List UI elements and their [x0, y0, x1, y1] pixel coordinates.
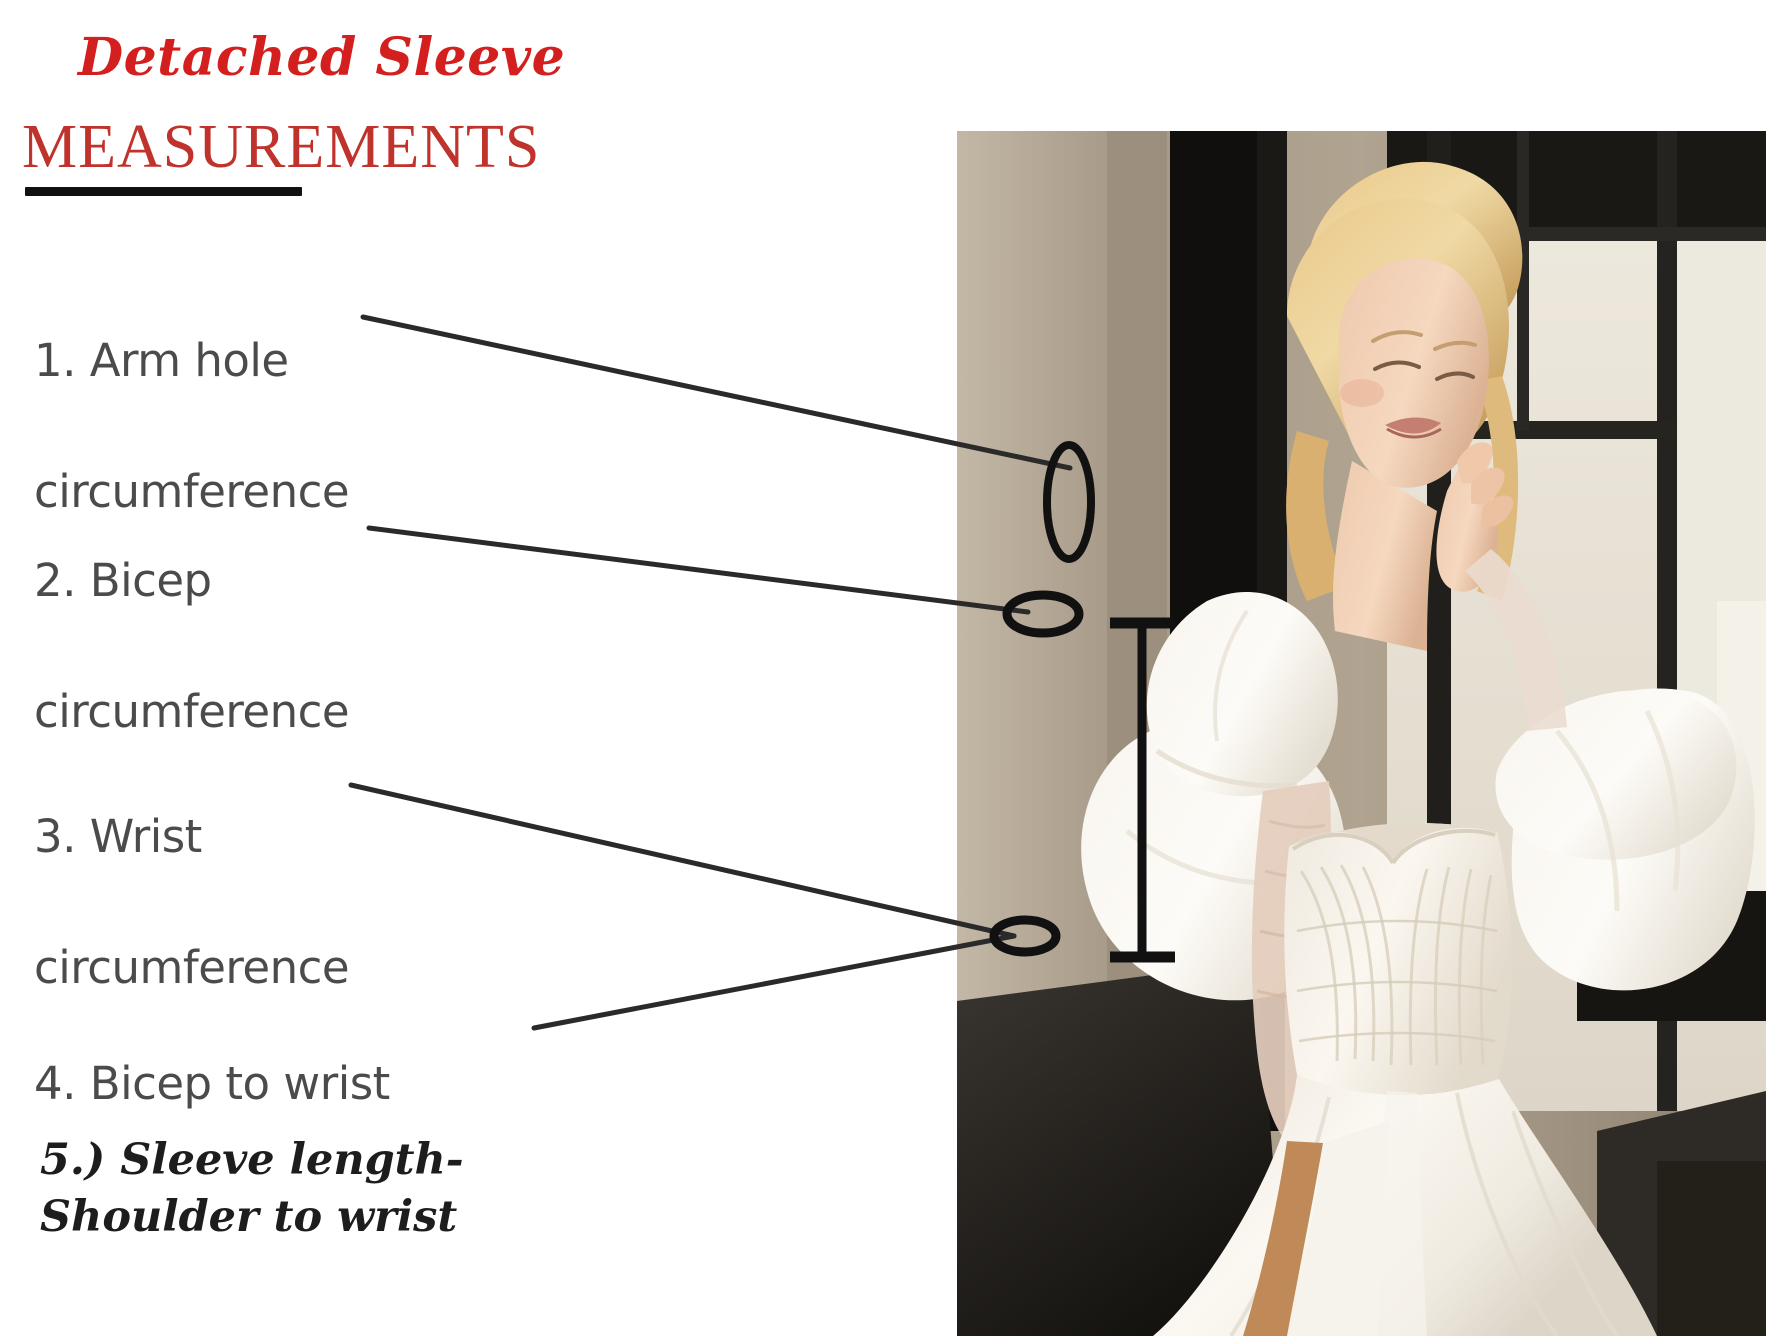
measurement-item-line1: 1. Arm hole: [34, 328, 349, 394]
page-title-script: Detached Sleeve: [78, 27, 565, 88]
bride-photo: [957, 131, 1766, 1336]
title-underline-rule: [25, 187, 302, 196]
leader-line-wrist: [351, 785, 1014, 936]
leader-line-bicep: [369, 528, 1028, 612]
measurement-guide-page: Detached Sleeve MEASUREMENTS 1. Arm hole…: [0, 0, 1766, 1336]
bride-photo-illustration: [957, 131, 1766, 1336]
measurement-item-sleeve-length: 5.) Sleeve length- Shoulder to wrist: [40, 1075, 464, 1245]
measurement-item-line1: 5.) Sleeve length-: [40, 1135, 464, 1185]
measurement-item-line2: circumference: [34, 679, 349, 745]
measurement-item-line1: 3. Wrist: [34, 804, 349, 870]
page-title-measurements: MEASUREMENTS: [22, 112, 540, 183]
measurement-item-line1: 2. Bicep: [34, 548, 349, 614]
measurement-item-line2: Shoulder to wrist: [40, 1192, 457, 1242]
leader-line-bicep-to-wrist: [534, 936, 1014, 1028]
